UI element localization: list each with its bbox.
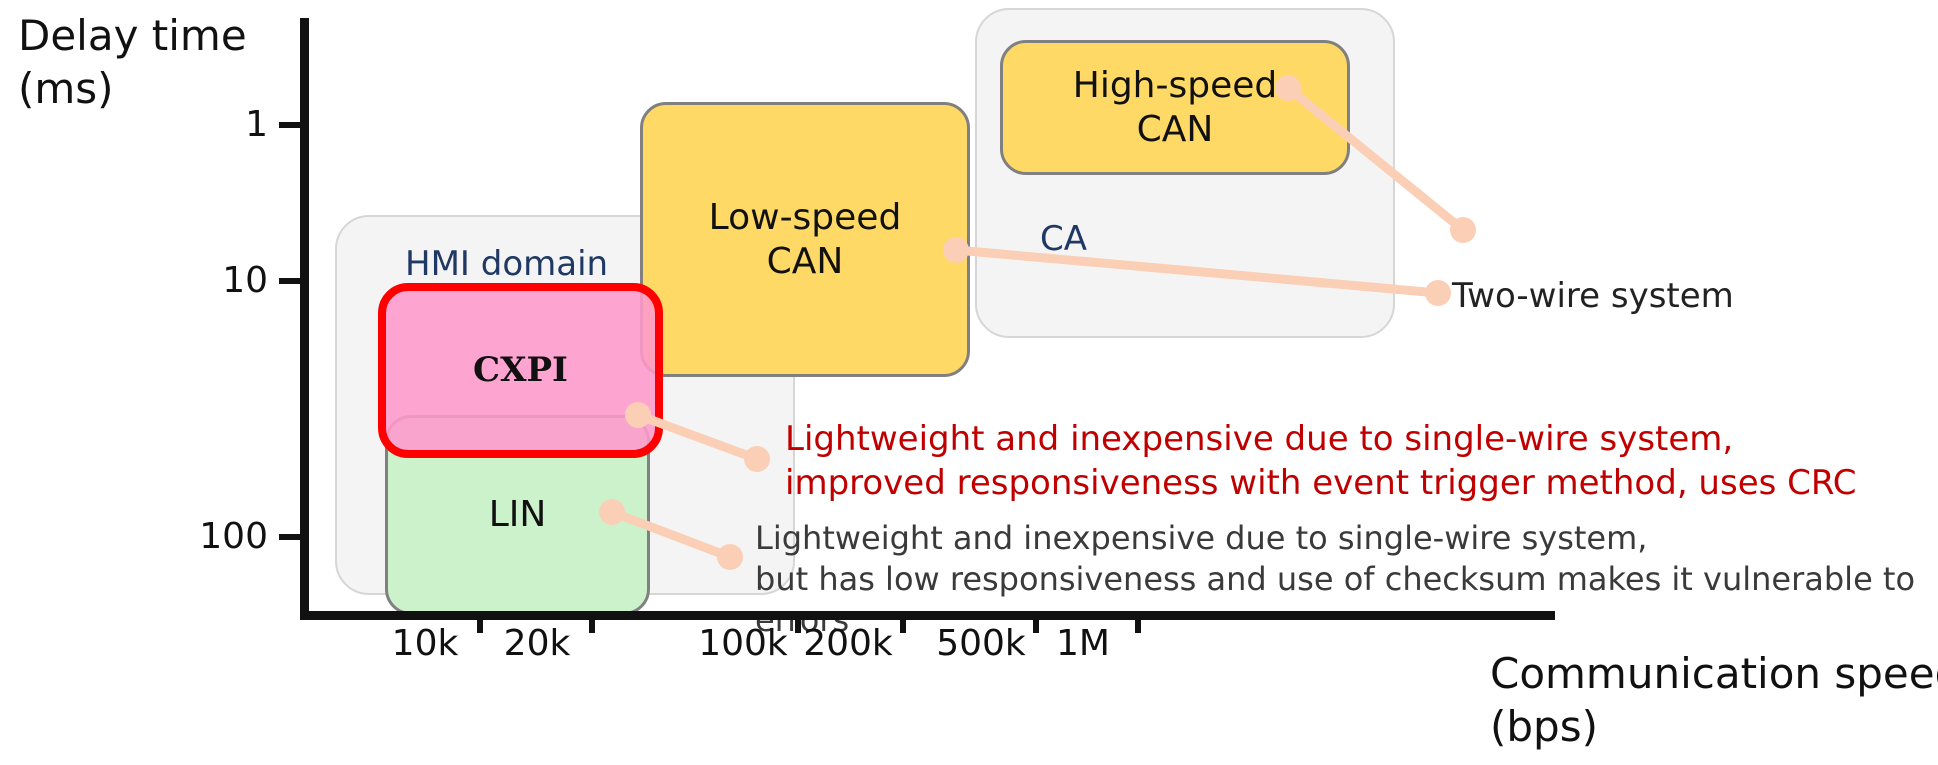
y-tick-label: 100 bbox=[110, 519, 268, 555]
x-axis-title: Communication speed (bps) bbox=[1490, 648, 1938, 753]
callout-two-wire-system: Two-wire system bbox=[1452, 275, 1734, 319]
y-axis-line bbox=[300, 18, 309, 620]
x-tick-label: 100k bbox=[683, 626, 803, 662]
x-tick-label: 200k bbox=[788, 626, 908, 662]
y-tick-label: 10 bbox=[110, 263, 268, 299]
diagram-canvas: Delay time (ms) HMI domain CA Low-speed … bbox=[0, 0, 1938, 765]
y-tick-label: 1 bbox=[110, 107, 268, 143]
protocol-box-low-speed-can[interactable]: Low-speed CAN bbox=[640, 102, 970, 377]
connector-endpoint-dot bbox=[1450, 217, 1476, 243]
y-tick-mark bbox=[279, 278, 301, 284]
y-tick-mark bbox=[279, 122, 301, 128]
callout-lin: Lightweight and inexpensive due to singl… bbox=[755, 518, 1938, 641]
protocol-box-cxpi[interactable]: CXPI bbox=[378, 283, 663, 458]
group-label-hmi-domain: HMI domain bbox=[405, 247, 608, 281]
group-label-ca-domain: CA bbox=[1040, 222, 1087, 256]
protocol-box-high-speed-can[interactable]: High-speed CAN bbox=[1000, 40, 1350, 175]
x-tick-label: 20k bbox=[477, 626, 597, 662]
x-tick-label: 1M bbox=[1023, 626, 1143, 662]
callout-cxpi: Lightweight and inexpensive due to singl… bbox=[785, 418, 1857, 505]
x-tick-label: 10k bbox=[365, 626, 485, 662]
y-axis-title: Delay time (ms) bbox=[18, 10, 247, 115]
connector-endpoint-dot bbox=[1425, 280, 1451, 306]
x-axis-line bbox=[300, 611, 1555, 620]
y-tick-mark bbox=[279, 534, 301, 540]
